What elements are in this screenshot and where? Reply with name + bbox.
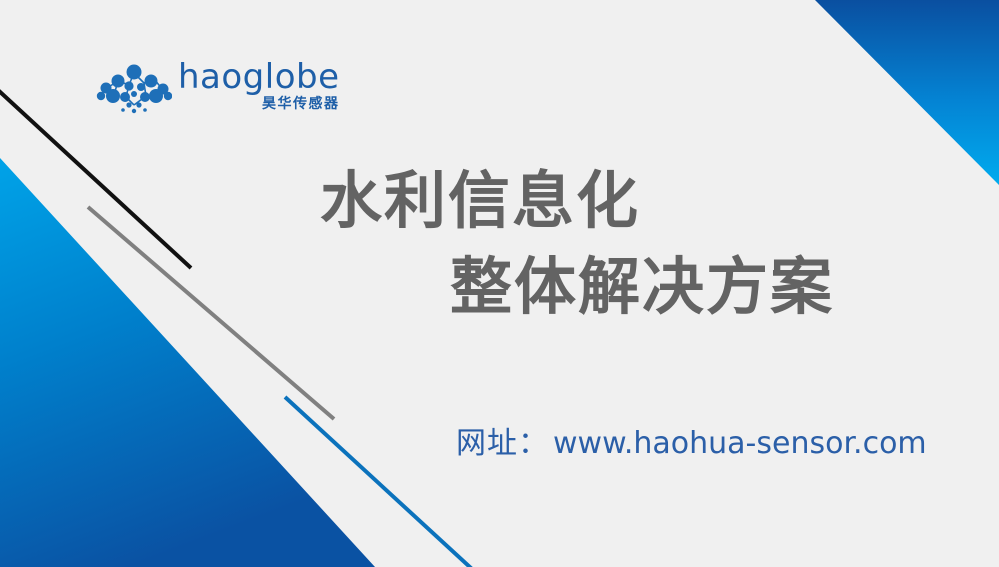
page-title: 水利信息化 整体解决方案 — [300, 163, 940, 325]
title-line-2: 整体解决方案 — [300, 249, 940, 325]
slide-canvas: haoglobe 昊华传感器 水利信息化 整体解决方案 网址： www.haoh… — [0, 0, 999, 567]
website-label: 网址： — [456, 418, 549, 462]
top-right-blue-gradient-triangle — [815, 0, 999, 185]
haoglobe-network-dots-icon — [96, 63, 172, 119]
company-logo: haoglobe 昊华传感器 — [96, 57, 311, 119]
website-url[interactable]: www.haohua-sensor.com — [553, 426, 927, 461]
logo-wordmark: haoglobe — [178, 57, 340, 97]
logo-text-column: haoglobe 昊华传感器 — [178, 57, 340, 113]
logo-subtitle: 昊华传感器 — [262, 95, 340, 113]
title-line-1: 水利信息化 — [300, 163, 940, 239]
website-line: 网址： www.haohua-sensor.com — [456, 418, 927, 462]
